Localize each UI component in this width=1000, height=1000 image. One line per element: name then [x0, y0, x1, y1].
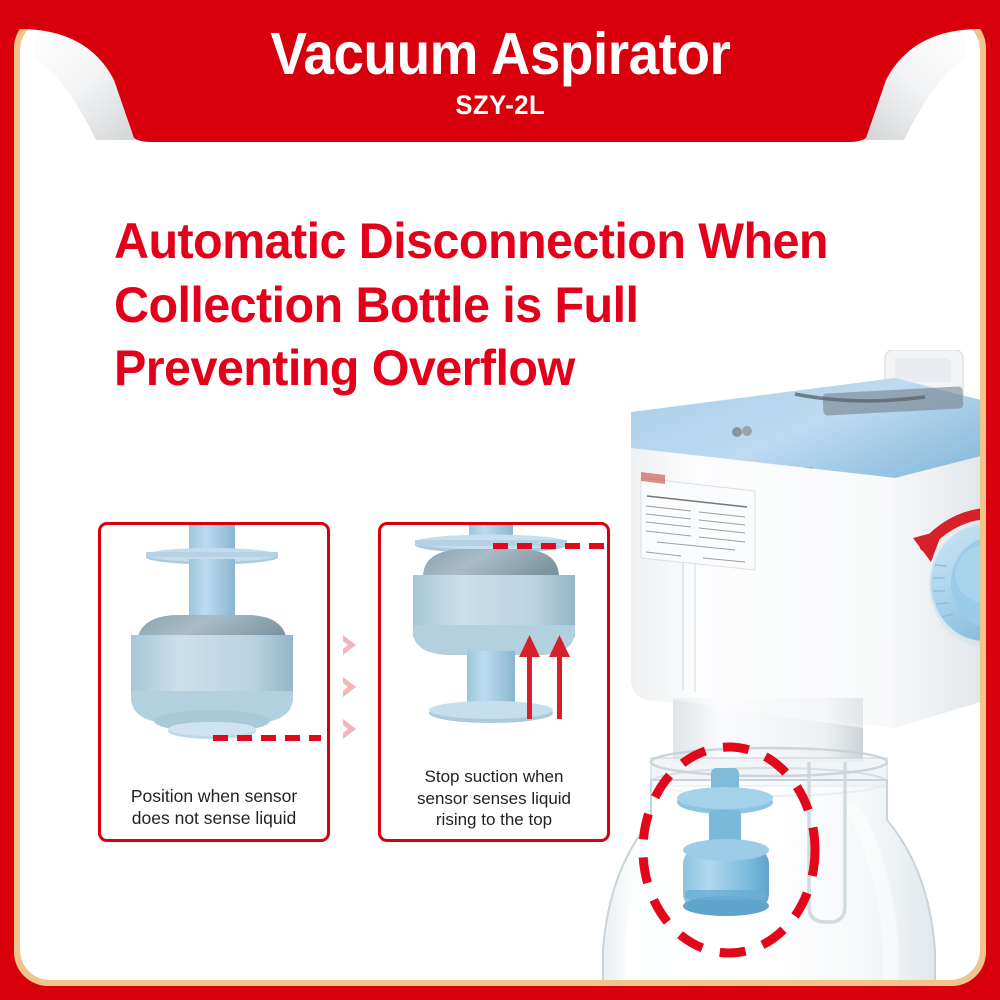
red-dashed-level-line: [213, 733, 323, 743]
headline-line-2: Collection Bottle is Full: [114, 274, 939, 338]
caption-line-1: Position when sensor: [107, 785, 321, 807]
headline-line-1: Automatic Disconnection When: [114, 210, 939, 274]
content-area: ▪▪▪▪▪▪: [20, 20, 980, 980]
panel-sensor-high: Stop suction when sensor senses liquid r…: [378, 522, 610, 842]
float-sensor-down-figure: [101, 525, 327, 743]
chevron-right-icon: [338, 632, 364, 658]
chevron-right-icon: [338, 716, 364, 742]
caption-line-3: rising to the top: [387, 809, 601, 831]
page-headline: Automatic Disconnection When Collection …: [114, 210, 964, 401]
banner-text: Vacuum Aspirator SZY-2L: [0, 0, 1000, 145]
caption-line-1: Stop suction when: [387, 766, 601, 788]
caption-line-2: sensor senses liquid: [387, 788, 601, 810]
chevron-right-icon: [338, 674, 364, 700]
product-photo: ▪▪▪▪▪▪: [595, 350, 980, 980]
transition-arrows: [338, 632, 372, 742]
page-frame: ▪▪▪▪▪▪: [0, 0, 1000, 1000]
caption-line-2: does not sense liquid: [107, 807, 321, 829]
banner-title: Vacuum Aspirator: [270, 24, 730, 84]
float-sensor-up-figure: [381, 525, 607, 743]
banner-subtitle: SZY-2L: [455, 90, 545, 121]
red-dashed-level-line: [493, 541, 610, 551]
panel-sensor-low: Position when sensor does not sense liqu…: [98, 522, 330, 842]
panel-left-caption: Position when sensor does not sense liqu…: [101, 785, 327, 829]
headline-line-3: Preventing Overflow: [114, 337, 939, 401]
panel-right-caption: Stop suction when sensor senses liquid r…: [381, 766, 607, 831]
